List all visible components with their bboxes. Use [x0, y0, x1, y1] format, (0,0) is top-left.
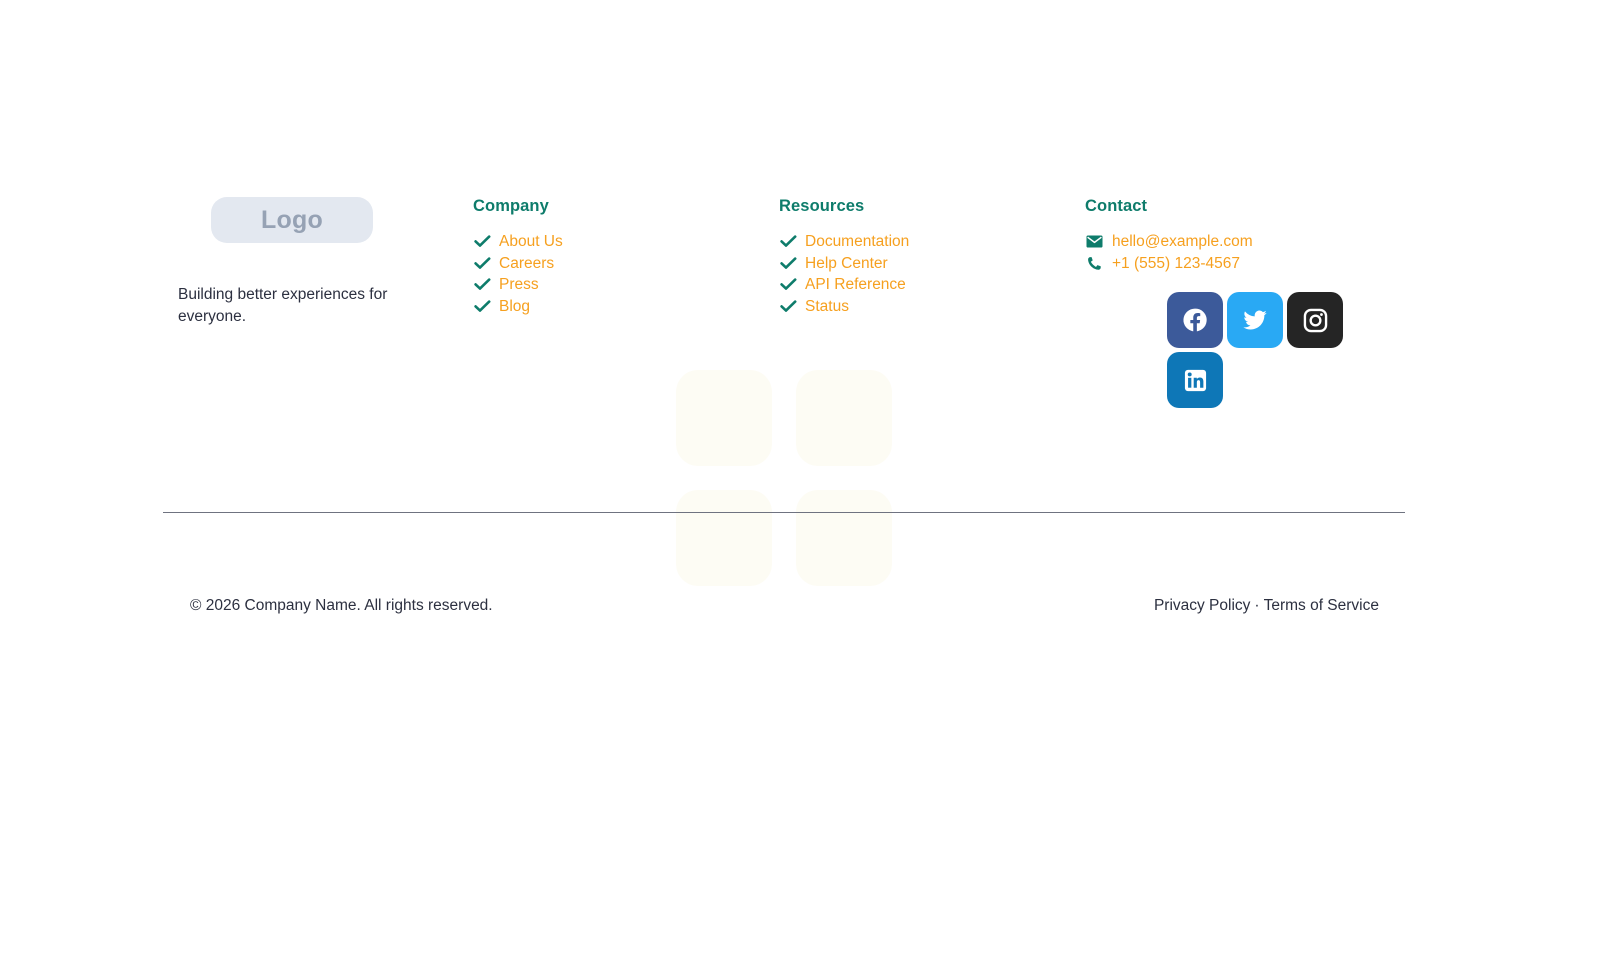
logo-label: Logo [261, 206, 323, 235]
check-icon [473, 277, 492, 292]
phone-icon [1085, 255, 1104, 271]
social-link-facebook[interactable] [1167, 292, 1223, 348]
legal-links: Privacy Policy · Terms of Service [1154, 597, 1405, 615]
list-item[interactable]: Status [779, 296, 1085, 318]
footer-bottom-bar: © 2026 Company Name. All rights reserved… [163, 597, 1405, 615]
list-item[interactable]: Careers [473, 253, 779, 275]
contact-phone[interactable]: +1 (555) 123-4567 [1112, 253, 1240, 274]
check-icon [779, 277, 798, 292]
check-icon [779, 256, 798, 271]
social-link-linkedin[interactable] [1167, 352, 1223, 408]
list-item[interactable]: Press [473, 274, 779, 296]
footer-link-api-reference[interactable]: API Reference [805, 274, 906, 295]
list-item[interactable]: +1 (555) 123-4567 [1085, 253, 1405, 275]
check-icon [473, 234, 492, 249]
privacy-policy-link[interactable]: Privacy Policy [1154, 597, 1250, 615]
check-icon [473, 256, 492, 271]
footer-link-blog[interactable]: Blog [499, 296, 530, 317]
social-link-twitter[interactable] [1227, 292, 1283, 348]
list-item[interactable]: hello@example.com [1085, 231, 1405, 253]
list-item[interactable]: About Us [473, 231, 779, 253]
check-icon [473, 299, 492, 314]
footer-column-contact: Contact hello@example.com +1 (555) 123-4… [1085, 197, 1405, 408]
column-heading-contact: Contact [1085, 197, 1405, 216]
terms-of-service-link[interactable]: Terms of Service [1264, 597, 1379, 615]
legal-separator: · [1254, 597, 1259, 615]
envelope-icon [1085, 234, 1104, 250]
footer-brand-column: Logo Building better experiences for eve… [163, 197, 473, 328]
footer-link-about-us[interactable]: About Us [499, 231, 563, 252]
resources-link-list: Documentation Help Center API Reference [779, 231, 1085, 317]
footer-column-resources: Resources Documentation Help Center [779, 197, 1085, 317]
instagram-icon [1302, 307, 1329, 334]
footer-column-company: Company About Us Careers [473, 197, 779, 317]
footer-link-documentation[interactable]: Documentation [805, 231, 909, 252]
list-item[interactable]: Help Center [779, 253, 1085, 275]
check-icon [779, 299, 798, 314]
footer-divider [163, 512, 1405, 513]
logo-placeholder[interactable]: Logo [211, 197, 373, 243]
footer-link-status[interactable]: Status [805, 296, 849, 317]
check-icon [779, 234, 798, 249]
list-item[interactable]: Blog [473, 296, 779, 318]
contact-list: hello@example.com +1 (555) 123-4567 [1085, 231, 1405, 274]
column-heading-resources: Resources [779, 197, 1085, 216]
list-item[interactable]: Documentation [779, 231, 1085, 253]
twitter-icon [1241, 306, 1269, 334]
footer-link-help-center[interactable]: Help Center [805, 253, 888, 274]
facebook-icon [1181, 306, 1209, 334]
site-footer: Logo Building better experiences for eve… [0, 0, 1600, 978]
copyright-text: © 2026 Company Name. All rights reserved… [163, 597, 493, 615]
footer-link-careers[interactable]: Careers [499, 253, 554, 274]
contact-email[interactable]: hello@example.com [1112, 231, 1253, 252]
footer-columns: Logo Building better experiences for eve… [163, 197, 1405, 408]
brand-tagline: Building better experiences for everyone… [178, 284, 408, 328]
social-link-instagram[interactable] [1287, 292, 1343, 348]
list-item[interactable]: API Reference [779, 274, 1085, 296]
social-links-row [1167, 292, 1343, 408]
company-link-list: About Us Careers Press [473, 231, 779, 317]
footer-link-press[interactable]: Press [499, 274, 539, 295]
linkedin-icon [1182, 367, 1209, 394]
column-heading-company: Company [473, 197, 779, 216]
